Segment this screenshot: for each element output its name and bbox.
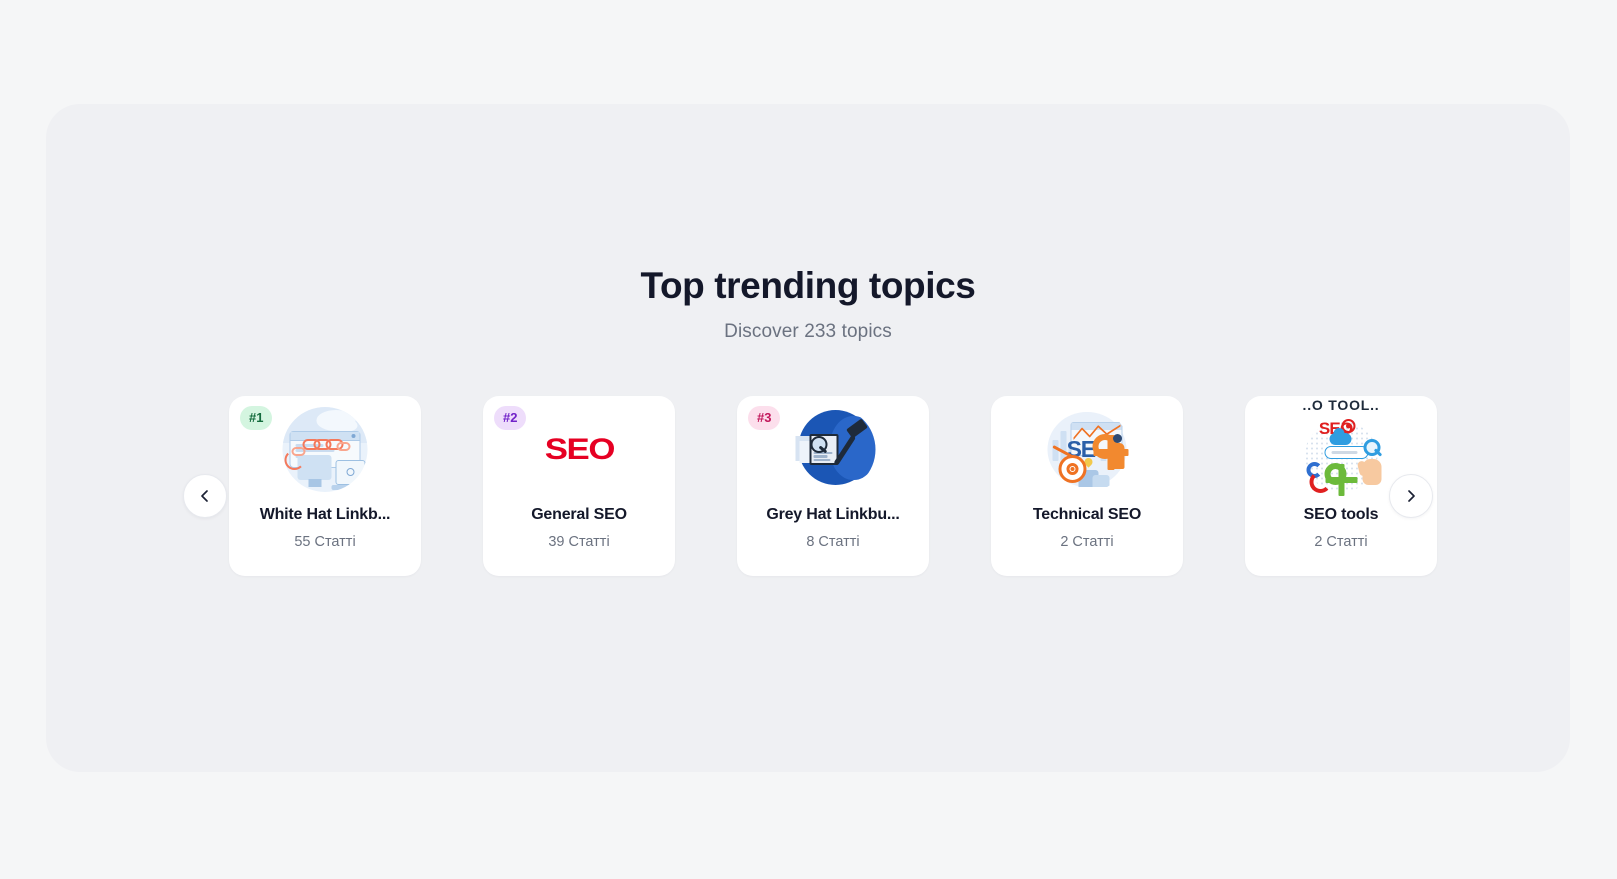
- page-title: Top trending topics: [46, 264, 1570, 308]
- topics-carousel: #1: [183, 396, 1433, 576]
- seo-tools-illustration: ..O TOOL.. SEO: [1299, 407, 1384, 492]
- topic-title: White Hat Linkb...: [237, 506, 413, 524]
- section-heading: Top trending topics Discover 233 topics: [46, 264, 1570, 343]
- topic-card[interactable]: SE Technical SEO 2 Статті: [991, 396, 1183, 576]
- seo-tools-overlay-text: ..O TOOL..: [1303, 397, 1380, 413]
- carousel-track: #1: [229, 396, 1437, 576]
- topic-article-count: 8 Статті: [745, 534, 921, 550]
- topic-article-count: 2 Статті: [1253, 534, 1429, 550]
- topic-thumbnail-wrap: ..O TOOL.. SEO: [1299, 407, 1384, 492]
- topic-article-count: 2 Статті: [999, 534, 1175, 550]
- carousel-next-button[interactable]: [1389, 474, 1433, 518]
- topic-thumbnail-wrap: [283, 407, 368, 492]
- topic-title: Technical SEO: [999, 506, 1175, 524]
- topic-title: General SEO: [491, 506, 667, 524]
- chevron-left-icon: [197, 488, 213, 504]
- seo-wordmark: SEO: [544, 433, 613, 467]
- topic-article-count: 39 Статті: [491, 534, 667, 550]
- technical-seo-illustration: SE: [1045, 407, 1130, 492]
- rank-badge: #3: [748, 406, 780, 430]
- rank-badge: #2: [494, 406, 526, 430]
- topic-thumbnail-wrap: SEO: [537, 407, 622, 492]
- white-hat-linkbuilding-illustration: [283, 407, 368, 492]
- topic-article-count: 55 Статті: [237, 534, 413, 550]
- topic-thumbnail-wrap: SE: [1045, 407, 1130, 492]
- carousel-prev-button[interactable]: [183, 474, 227, 518]
- trending-topics-panel: Top trending topics Discover 233 topics …: [46, 104, 1570, 772]
- topic-title: Grey Hat Linkbu...: [745, 506, 921, 524]
- chevron-right-icon: [1403, 488, 1419, 504]
- rank-badge: #1: [240, 406, 272, 430]
- section-subtitle: Discover 233 topics: [46, 321, 1570, 343]
- topic-card[interactable]: #2 SEO General SEO 39 Статті: [483, 396, 675, 576]
- topic-card[interactable]: #3: [737, 396, 929, 576]
- general-seo-logo: SEO: [537, 407, 622, 492]
- grey-hat-linkbuilding-illustration: [791, 407, 876, 492]
- topic-card[interactable]: #1: [229, 396, 421, 576]
- topic-thumbnail-wrap: [791, 407, 876, 492]
